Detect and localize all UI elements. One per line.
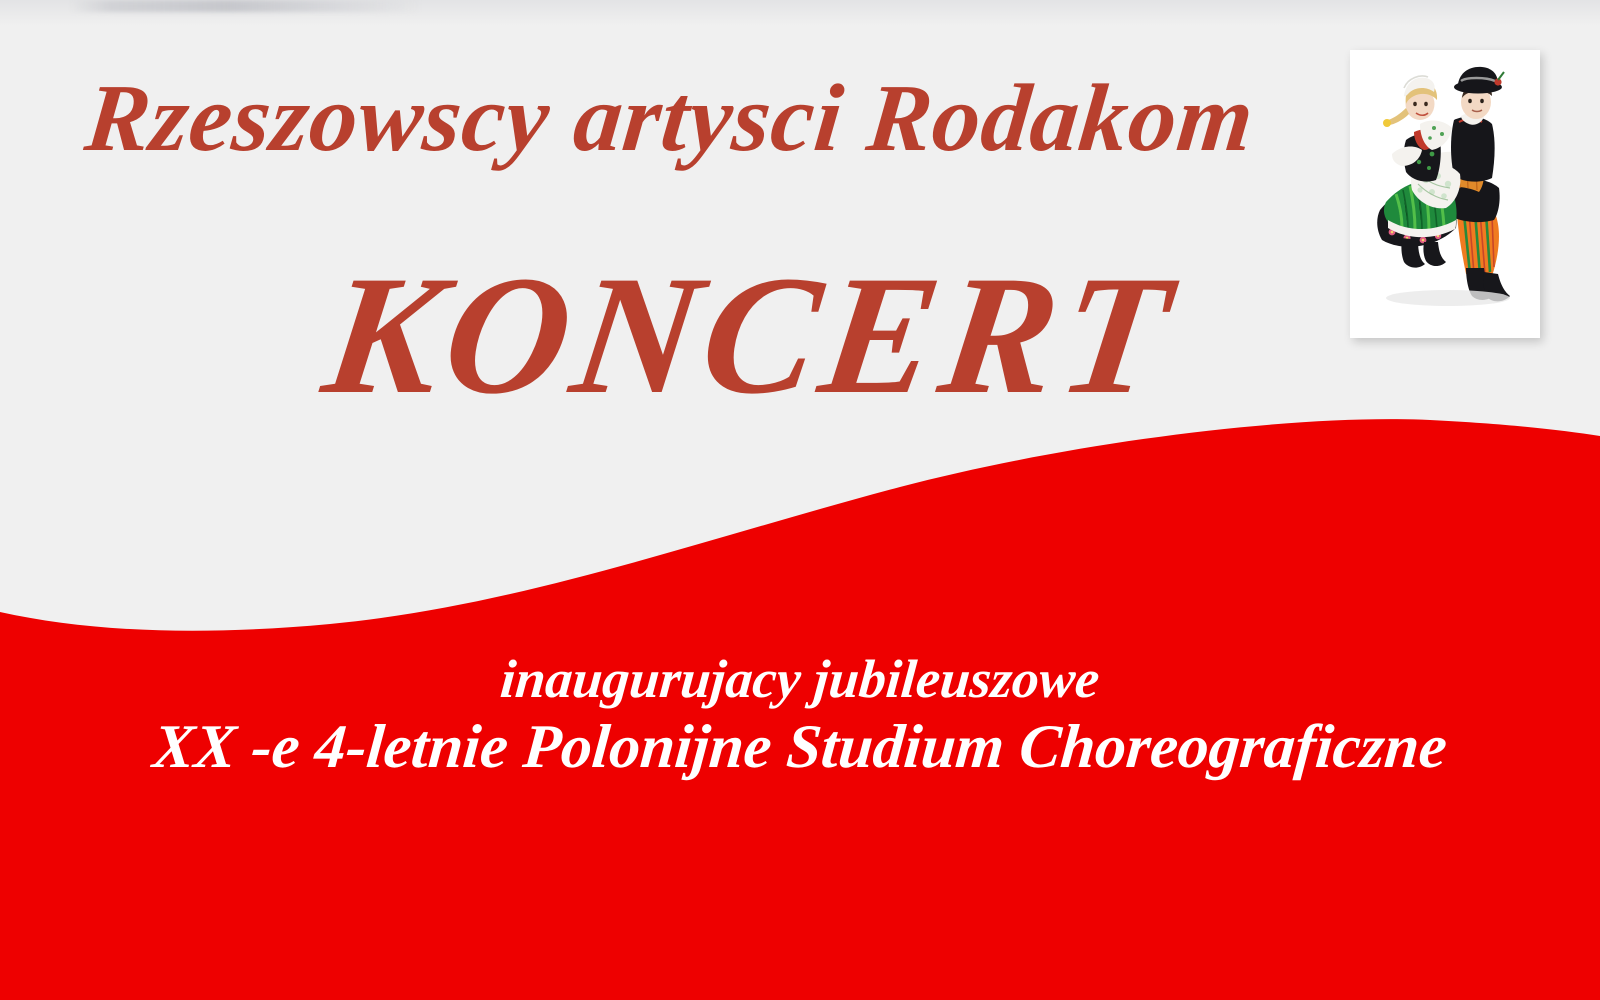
subtitle-line-1: inaugurujacy jubileuszowe	[0, 648, 1600, 710]
poster-canvas: Rzeszowscy artysci Rodakom KONCERT inaug…	[0, 0, 1600, 1000]
folk-dancers-photo-frame	[1350, 50, 1540, 338]
subtitle-line-2: XX -e 4-letnie Polonijne Studium Choreog…	[0, 712, 1600, 783]
event-title: KONCERT	[0, 250, 1512, 420]
folk-dancers-photo-icon	[1362, 62, 1528, 316]
page-title: Rzeszowscy artysci Rodakom	[0, 70, 1345, 166]
